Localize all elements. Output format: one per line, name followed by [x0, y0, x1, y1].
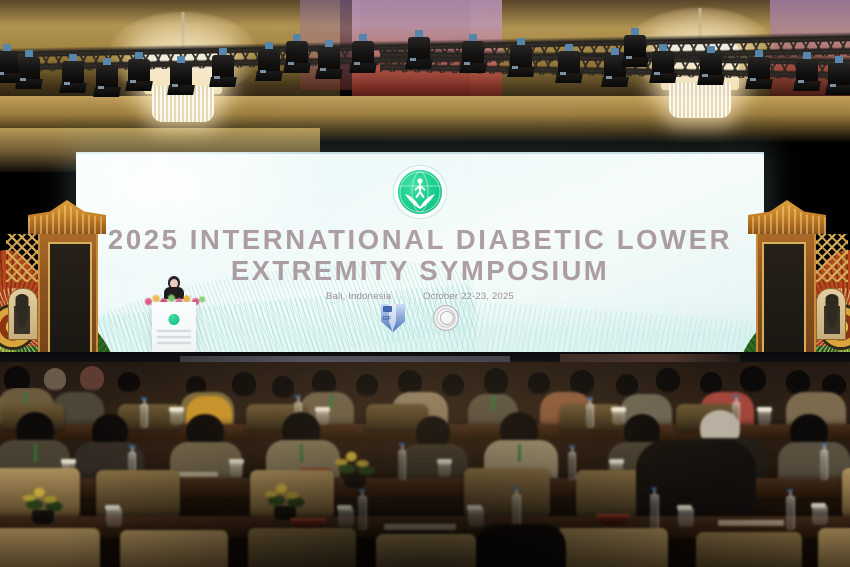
gate-tower-inner	[762, 242, 806, 358]
audience-vignette	[0, 362, 850, 567]
stage-spotlight	[462, 34, 484, 74]
gate-crown-texture	[28, 204, 106, 234]
symposium-globe-logo	[394, 166, 446, 218]
crest-header	[383, 306, 392, 312]
gate-tower	[756, 218, 816, 372]
crest-label: IDF	[383, 316, 391, 322]
stage-side-strip	[560, 354, 740, 362]
podium-sign-text	[157, 330, 191, 348]
gate-crown-texture	[748, 204, 826, 234]
stage-spotlight	[128, 52, 150, 92]
stage-spotlight	[510, 38, 532, 78]
stage-spotlight	[352, 34, 374, 74]
stage-spotlight	[0, 44, 18, 84]
screenshot-root: 2025 INTERNATIONAL DIABETIC LOWER EXTREM…	[0, 0, 850, 567]
stage-spotlight	[96, 58, 118, 98]
title-line-1: 2025 INTERNATIONAL DIABETIC LOWER	[76, 224, 764, 255]
stage-spotlight	[258, 42, 280, 82]
stage-spotlight	[408, 30, 430, 70]
stage-spotlight	[604, 48, 626, 88]
stage-spotlight	[286, 34, 308, 74]
event-location: Bali, Indonesia	[326, 291, 391, 302]
stage-spotlight	[18, 50, 40, 90]
stage-spotlight	[212, 48, 234, 88]
gate-niche-figure	[824, 294, 840, 334]
logo-figure-glyph	[398, 170, 442, 214]
gate-tower	[38, 218, 98, 372]
stage-spotlight	[700, 46, 722, 86]
event-dates: October 22-23, 2025	[423, 291, 514, 302]
stage-spotlight	[170, 56, 192, 96]
seal-inner-ring	[440, 311, 454, 325]
stage-spotlight	[828, 56, 850, 96]
gate-tower-inner	[48, 242, 92, 358]
grey-circular-seal-logo	[433, 305, 459, 331]
stage-spotlight	[652, 44, 674, 84]
blue-shield-crest-logo: IDF	[381, 304, 405, 332]
gate-filigree-panel	[6, 234, 38, 282]
stage-spotlight	[624, 28, 646, 68]
stage-spotlight	[62, 54, 84, 94]
gate-niche-figure	[14, 294, 30, 334]
stage-spotlight	[558, 44, 580, 84]
gate-filigree-panel	[816, 234, 848, 282]
chandelier-crystal-skirt	[669, 82, 731, 118]
stage-spotlight	[796, 52, 818, 92]
stage-spotlight	[318, 40, 340, 80]
stage-spotlight	[748, 50, 770, 90]
podium-logo-icon	[169, 314, 180, 325]
